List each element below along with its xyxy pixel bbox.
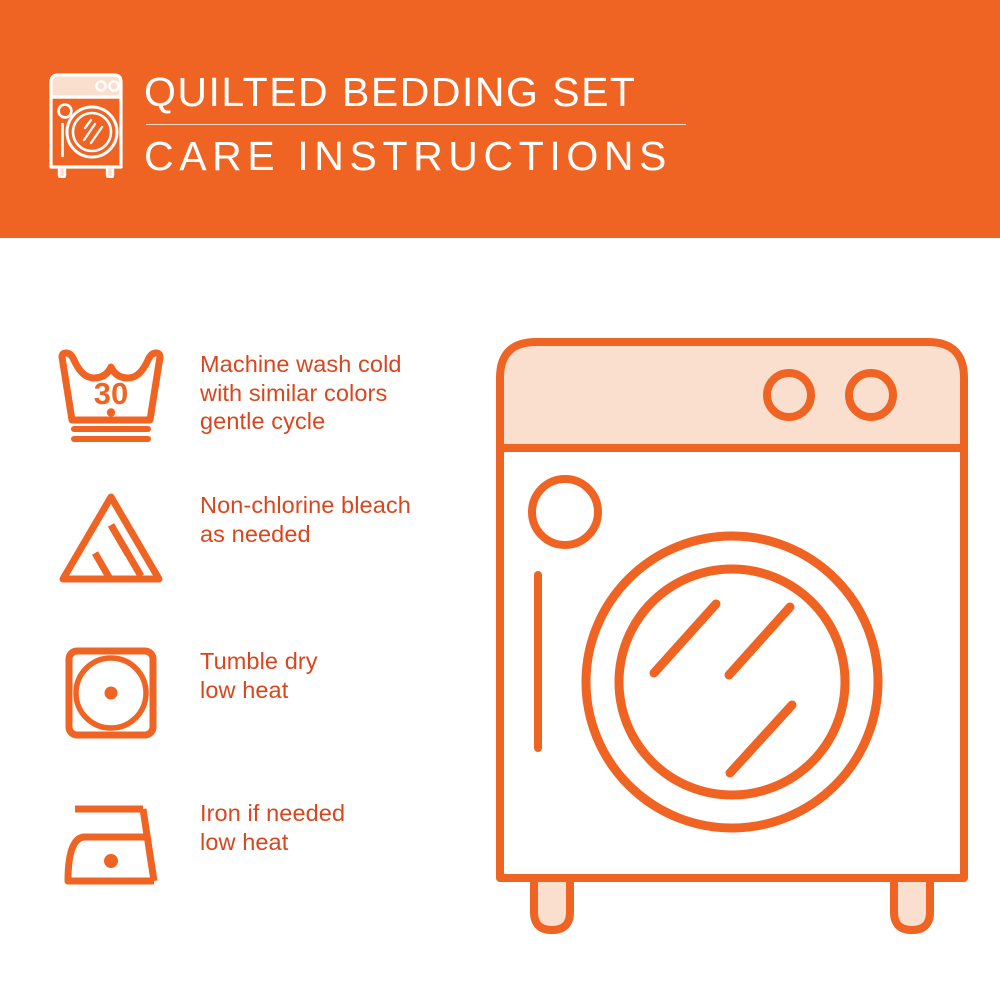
tumble-dry-low-heat-icon [52, 645, 170, 741]
care-label-bleach-line-1: Non-chlorine bleach [200, 491, 411, 520]
page-subtitle: CARE INSTRUCTIONS [144, 131, 844, 181]
care-row-tumble-dry: Tumble dry low heat [52, 645, 472, 741]
care-instructions-infographic: QUILTED BEDDING SET CARE INSTRUCTIONS 30… [0, 0, 1000, 1000]
header-text-block: QUILTED BEDDING SET CARE INSTRUCTIONS [144, 68, 844, 181]
care-label-wash-line-1: Machine wash cold [200, 350, 402, 379]
care-label-iron: Iron if needed low heat [200, 797, 345, 856]
leg-left [534, 878, 570, 930]
iron-low-heat-icon [52, 797, 170, 893]
care-label-iron-line-1: Iron if needed [200, 799, 345, 828]
title-divider [146, 124, 686, 125]
care-label-wash-line-2: with similar colors [200, 379, 402, 408]
page-title: QUILTED BEDDING SET [144, 68, 844, 117]
care-label-dry-line-1: Tumble dry [200, 647, 318, 676]
care-row-iron: Iron if needed low heat [52, 797, 472, 893]
care-row-bleach: Non-chlorine bleach as needed [52, 489, 472, 585]
care-row-wash: 30 Machine wash cold with similar colors… [52, 348, 472, 444]
care-label-dry-line-2: low heat [200, 676, 318, 705]
wash-tub-30-gentle-icon: 30 [52, 348, 170, 444]
care-label-wash: Machine wash cold with similar colors ge… [200, 348, 402, 436]
non-chlorine-bleach-triangle-icon [52, 489, 170, 585]
washing-machine-illustration [492, 330, 972, 940]
care-label-wash-line-3: gentle cycle [200, 407, 402, 436]
care-label-bleach-line-2: as needed [200, 520, 411, 549]
header-banner: QUILTED BEDDING SET CARE INSTRUCTIONS [0, 0, 1000, 238]
care-label-bleach: Non-chlorine bleach as needed [200, 489, 411, 548]
wash-temperature-label: 30 [94, 376, 128, 411]
care-label-iron-line-2: low heat [200, 828, 345, 857]
machine-body [500, 448, 964, 878]
washing-machine-icon [44, 72, 128, 178]
leg-right [894, 878, 930, 930]
care-label-tumble-dry: Tumble dry low heat [200, 645, 318, 704]
